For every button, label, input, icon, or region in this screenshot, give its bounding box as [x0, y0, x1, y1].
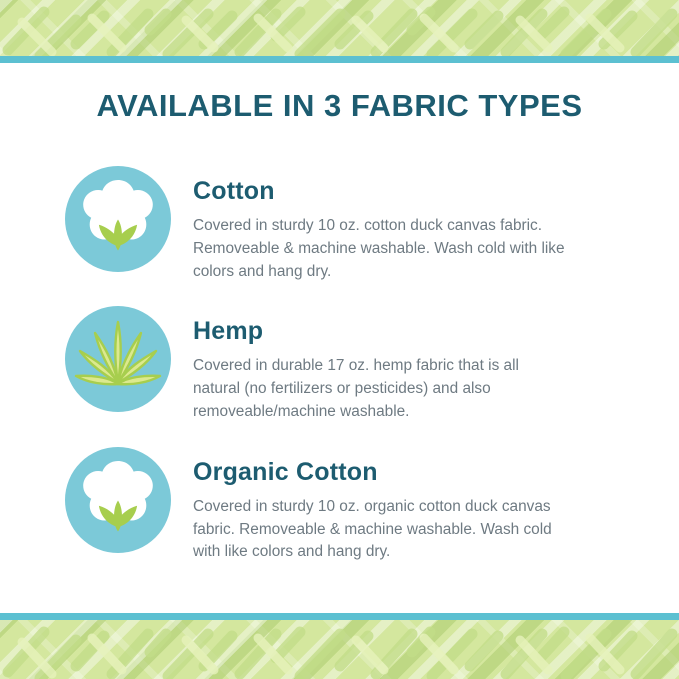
- cotton-boll-icon: [62, 444, 174, 556]
- feature-text-block: Organic Cotton Covered in sturdy 10 oz. …: [193, 444, 565, 564]
- feature-heading: Hemp: [193, 317, 565, 346]
- feature-description: Covered in sturdy 10 oz. cotton duck can…: [193, 215, 565, 283]
- bottom-teal-rule: [0, 613, 679, 620]
- cotton-boll-icon: [62, 163, 174, 275]
- infographic-page: AVAILABLE IN 3 FABRIC TYPES Cotton Cover…: [0, 0, 679, 679]
- feature-description: Covered in sturdy 10 oz. organic cotton …: [193, 496, 565, 564]
- feature-heading: Cotton: [193, 177, 565, 206]
- feature-text-block: Cotton Covered in sturdy 10 oz. cotton d…: [193, 163, 565, 283]
- top-decorative-band: [0, 0, 679, 63]
- hemp-leaf-icon: [62, 303, 174, 415]
- fabric-type-list: Cotton Covered in sturdy 10 oz. cotton d…: [0, 163, 679, 584]
- feature-text-block: Hemp Covered in durable 17 oz. hemp fabr…: [193, 303, 565, 423]
- list-item: Hemp Covered in durable 17 oz. hemp fabr…: [0, 303, 679, 423]
- bottom-decorative-band: [0, 612, 679, 679]
- bottom-band-diagonal-dashes: [0, 620, 679, 679]
- top-teal-rule: [0, 56, 679, 63]
- list-item: Cotton Covered in sturdy 10 oz. cotton d…: [0, 163, 679, 283]
- feature-heading: Organic Cotton: [193, 458, 565, 487]
- list-item: Organic Cotton Covered in sturdy 10 oz. …: [0, 444, 679, 564]
- top-band-diagonal-dashes: [0, 0, 679, 56]
- feature-description: Covered in durable 17 oz. hemp fabric th…: [193, 355, 565, 423]
- page-title: AVAILABLE IN 3 FABRIC TYPES: [0, 88, 679, 124]
